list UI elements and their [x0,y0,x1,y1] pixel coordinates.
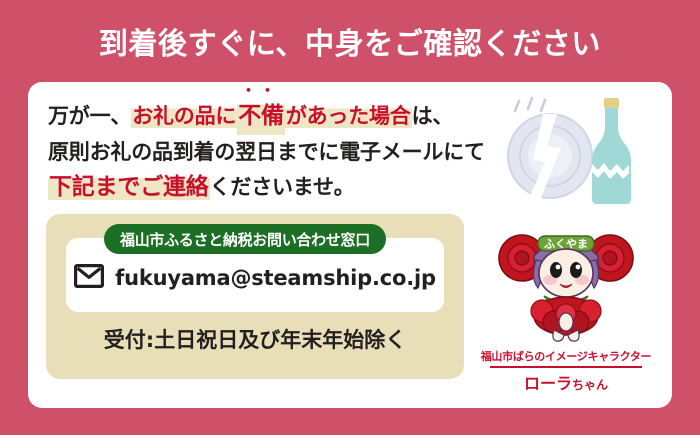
contact-badge: 福山市ふるさと納税お問い合わせ窓口 [104,224,386,254]
notice-body-line-1: 万が一、お礼の品に不備があった場合は、 [48,98,510,135]
notice-body-line-3: 下記までご連絡くださいませ。 [48,169,510,206]
cracked-plate-icon [508,114,592,198]
contact-email-row[interactable]: fukuyama@steamship.co.jp [66,264,444,292]
contact-box: 福山市ふるさと納税お問い合わせ窓口 fukuyama@steamship.co.… [46,214,464,379]
contact-email-address[interactable]: fukuyama@steamship.co.jp [115,266,436,290]
mascot-divider [490,366,642,368]
body-line1-emphasis-defect: 不備 [237,98,285,135]
contact-card: 福山市ふるさと納税お問い合わせ窓口 fukuyama@steamship.co.… [66,238,444,312]
broken-items-illustration [483,86,663,206]
mascot-rola-chan-icon: ふくやま [476,210,656,346]
body-line1-highlight-a: お礼の品に [131,104,237,128]
notice-header: 到着後すぐに、中身をご確認ください [0,0,700,82]
envelope-icon [74,264,104,292]
notice-body: 万が一、お礼の品に不備があった場合は、 原則お礼の品到着の翌日までに電子メールに… [48,98,510,207]
body-line3-highlight: 下記までご連絡 [48,174,210,200]
contact-badge-label: 福山市ふるさと納税お問い合わせ窓口 [120,229,370,250]
body-line1-highlight-b: があった場合 [285,104,412,128]
mascot-name-main: ローラ [524,374,572,393]
body-line1-prefix: 万が一、 [48,104,131,128]
notice-body-line-2: 原則お礼の品到着の翌日までに電子メールにて [48,135,510,169]
page-title: 到着後すぐに、中身をご確認ください [99,19,601,63]
arrival-check-notice: 到着後すぐに、中身をご確認ください 万が一、お礼の品に不備があった場合は、 原則… [0,0,700,435]
contact-hours: 受付:土日祝日及び年末年始除く [46,324,464,354]
content-panel: 万が一、お礼の品に不備があった場合は、 原則お礼の品到着の翌日までに電子メールに… [28,82,672,408]
mascot-name-suffix: ちゃん [572,378,608,392]
mascot-caption: 福山市ばらのイメージキャラクター [476,348,656,364]
body-line1-suffix: は、 [412,104,454,128]
mascot-name: ローラちゃん [476,370,656,394]
impact-lines [515,98,545,111]
broken-bottle-icon [592,98,631,204]
mascot-block: ふくやま [476,210,656,394]
body-line3-suffix: くださいませ。 [210,175,355,199]
